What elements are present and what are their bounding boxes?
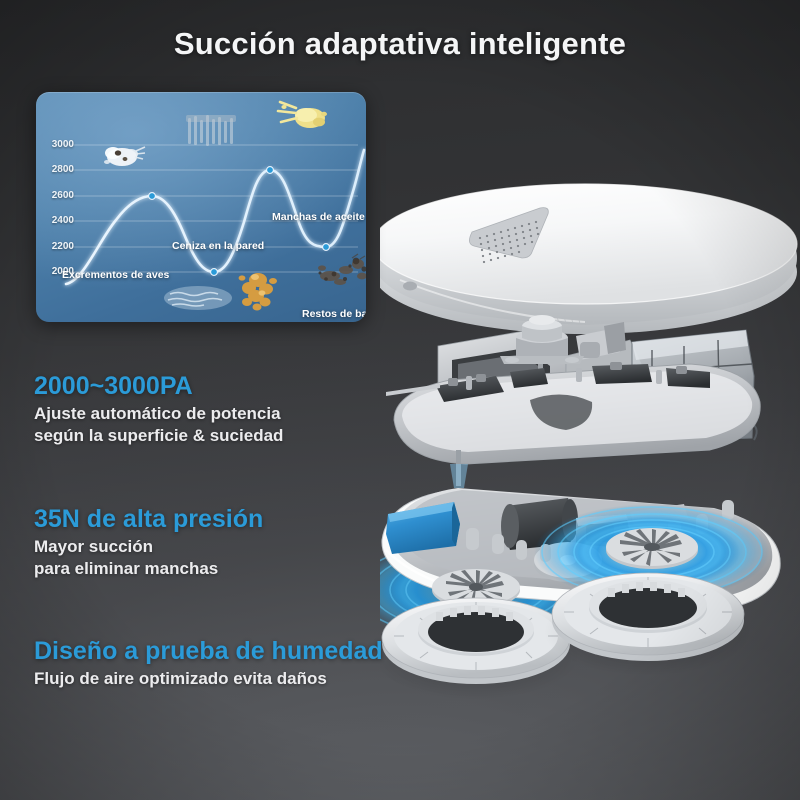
feature-2-line-2: para eliminar manchas <box>34 558 263 580</box>
page-title: Succión adaptativa inteligente <box>0 26 800 62</box>
ytick-2200: 2200 <box>40 241 74 252</box>
suction-line-chart-extra-markers <box>36 92 366 322</box>
chart-point-label-ceniza: Ceniza en la pared <box>172 240 264 252</box>
top-cover-shell <box>380 184 797 334</box>
feature-1-line-2: según la superficie & suciedad <box>34 425 283 447</box>
feature-suction-power: 2000~3000PA Ajuste automático de potenci… <box>34 372 283 448</box>
chart-point-label-aceite: Manchas de aceite <box>272 211 365 223</box>
ytick-2600: 2600 <box>40 190 74 201</box>
robot-vacuum-exploded-view <box>380 120 800 780</box>
feature-3-headline: Diseño a prueba de humedad <box>34 637 383 666</box>
feature-2-line-1: Mayor succión <box>34 536 263 558</box>
feature-high-pressure: 35N de alta presión Mayor succión para e… <box>34 505 263 581</box>
chart-inner: 3000 2800 2600 2400 2200 2000 <box>36 92 366 322</box>
feature-3-line-1: Flujo de aire optimizado evita daños <box>34 668 383 690</box>
mop-pad-holder-left <box>380 598 580 700</box>
feature-1-headline: 2000~3000PA <box>34 372 283 401</box>
chart-point-label-excrementos: Excrementos de aves <box>62 269 169 281</box>
ytick-2800: 2800 <box>40 164 74 175</box>
chart-point-label-barro: Restos de barro <box>302 308 366 320</box>
ytick-2400: 2400 <box>40 215 74 226</box>
battery-pack <box>386 502 460 554</box>
feature-2-headline: 35N de alta presión <box>34 505 263 534</box>
feature-1-line-1: Ajuste automático de potencia <box>34 403 283 425</box>
product-feature-graphic: Succión adaptativa inteligente <box>0 0 800 800</box>
ytick-3000: 3000 <box>40 139 74 150</box>
adaptive-suction-chart-panel: 3000 2800 2600 2400 2200 2000 <box>36 92 366 322</box>
mop-pad-holder-right <box>544 573 752 676</box>
feature-moisture-proof: Diseño a prueba de humedad Flujo de aire… <box>34 637 383 690</box>
spinning-mop-disc-right <box>606 528 698 569</box>
